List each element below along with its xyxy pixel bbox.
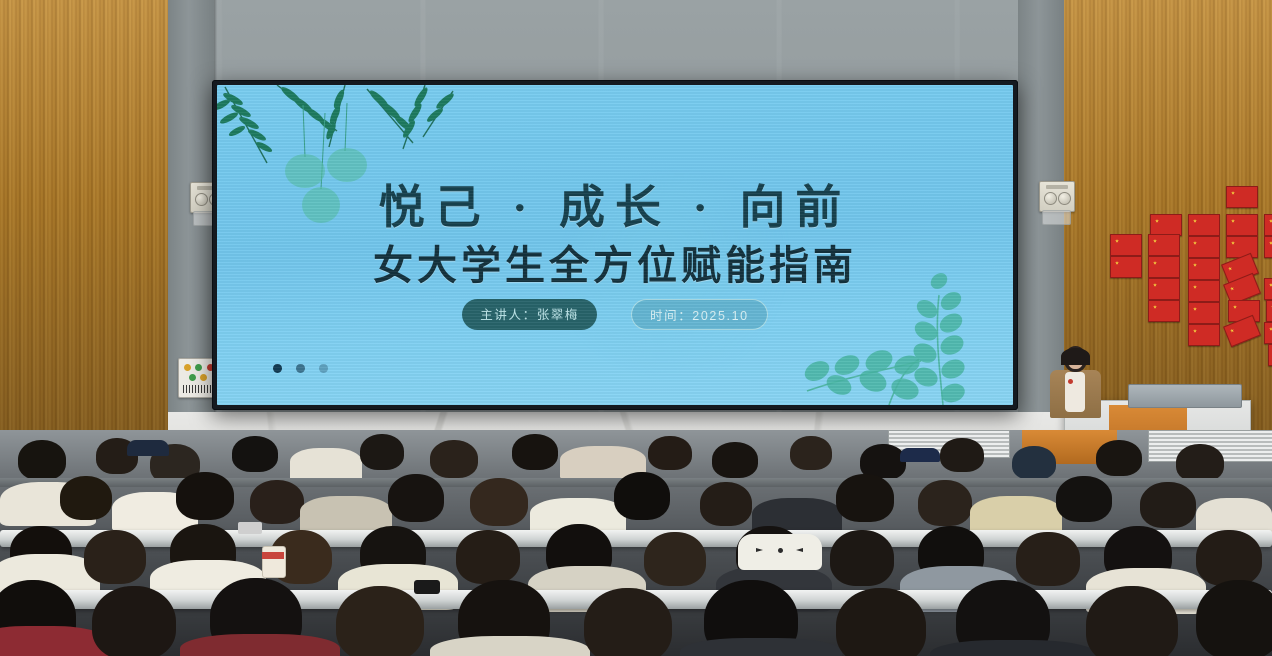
podium-monitor xyxy=(1128,384,1242,408)
audience-head xyxy=(176,472,234,520)
cap xyxy=(127,440,169,456)
audience-head xyxy=(584,588,672,656)
speaker-badge: 主讲人：张翠梅 xyxy=(462,299,597,330)
audience-head xyxy=(830,530,894,586)
date-badge: 时间：2025.10 xyxy=(631,299,768,330)
audience-head xyxy=(1056,476,1112,522)
safety-dot-icon xyxy=(200,374,207,381)
audience-head xyxy=(1176,444,1224,482)
chinese-flag-icon xyxy=(1264,214,1272,236)
panel-knob-right[interactable] xyxy=(1058,192,1071,205)
panel-slot xyxy=(1046,185,1068,189)
slide-canvas: 悦己 · 成长 · 向前 女大学生全方位赋能指南 主讲人：张翠梅 时间：2025… xyxy=(217,85,1013,405)
lecture-hall-photo: 悦己 · 成长 · 向前 女大学生全方位赋能指南 主讲人：张翠梅 时间：2025… xyxy=(0,0,1272,656)
chinese-flag-icon xyxy=(1148,256,1180,278)
audience-coat xyxy=(930,640,1096,656)
audience-head xyxy=(336,586,424,656)
audience-head xyxy=(790,436,832,470)
audience-head xyxy=(360,434,404,470)
chinese-flag-icon xyxy=(1148,234,1180,256)
presenter-top xyxy=(1065,372,1085,412)
panel-knob-left[interactable] xyxy=(1044,192,1057,205)
audience-head xyxy=(1012,446,1056,480)
audience-head xyxy=(92,586,176,656)
audience-head xyxy=(1196,580,1272,656)
chinese-flag-icon xyxy=(1148,300,1180,322)
chinese-flag-icon xyxy=(1188,214,1220,236)
audience-head xyxy=(250,480,304,524)
cap xyxy=(900,448,940,462)
audience-head xyxy=(512,434,558,470)
beanie-face-icon xyxy=(778,548,783,553)
audience-head xyxy=(470,478,528,526)
audience-head xyxy=(1016,532,1080,586)
audience-coat xyxy=(430,636,590,656)
audience-coat xyxy=(680,638,842,656)
audience-coat xyxy=(290,448,362,482)
audience-head xyxy=(1086,586,1178,656)
chinese-flag-icon xyxy=(1226,236,1258,258)
hair-clip xyxy=(414,580,440,594)
audience-head xyxy=(1140,482,1196,528)
slide-title: 悦己 · 成长 · 向前 xyxy=(217,171,1013,237)
control-panel-body xyxy=(1039,181,1075,212)
dot-icon xyxy=(273,364,282,373)
chinese-flag-icon xyxy=(1188,280,1220,302)
audience-head xyxy=(644,532,706,586)
wall-control-panel-right[interactable] xyxy=(1039,181,1073,221)
safety-dot-icon xyxy=(195,364,202,371)
audience-head xyxy=(232,436,278,472)
dot-icon xyxy=(296,364,305,373)
audience-area xyxy=(0,430,1272,656)
safety-dot-icon xyxy=(189,374,196,381)
chinese-flag-icon xyxy=(1264,278,1272,300)
panel-outlet xyxy=(1042,210,1071,225)
chinese-flag-icon xyxy=(1264,236,1272,258)
bottle-label xyxy=(262,552,284,559)
slide-badges: 主讲人：张翠梅 时间：2025.10 xyxy=(217,299,1013,330)
audience-head xyxy=(940,438,984,472)
audience-head xyxy=(836,588,926,656)
audience-head xyxy=(712,442,758,478)
presenter-hair xyxy=(1061,348,1090,365)
chinese-flag-icon xyxy=(1226,214,1258,236)
chinese-flag-icon xyxy=(1148,278,1180,300)
audience-head xyxy=(648,436,692,470)
chinese-flag-icon xyxy=(1110,234,1142,256)
audience-head xyxy=(918,480,972,526)
flag-wall xyxy=(1128,186,1272,346)
water-bottle xyxy=(262,546,286,578)
presenter xyxy=(1044,346,1106,418)
chinese-flag-icon xyxy=(1264,322,1272,344)
safety-dot-icon xyxy=(184,364,191,371)
chinese-flag-icon xyxy=(1188,324,1220,346)
slide-subtitle: 女大学生全方位赋能指南 xyxy=(217,233,1013,291)
chinese-flag-icon xyxy=(1188,302,1220,324)
panel-knob-left[interactable] xyxy=(195,193,208,206)
chinese-flag-icon xyxy=(1268,344,1272,366)
audience-head xyxy=(60,476,112,520)
chinese-flag-icon xyxy=(1188,236,1220,258)
slide-dot-decoration xyxy=(273,364,328,373)
audience-head xyxy=(18,440,66,480)
chinese-flag-icon xyxy=(1188,258,1220,280)
audience-head xyxy=(388,474,444,522)
audience-head xyxy=(836,474,894,522)
led-presentation-screen[interactable]: 悦己 · 成长 · 向前 女大学生全方位赋能指南 主讲人：张翠梅 时间：2025… xyxy=(212,80,1018,410)
chinese-flag-icon xyxy=(1150,214,1182,236)
audience-head xyxy=(614,472,670,520)
audience-head xyxy=(1096,440,1142,476)
audience-head xyxy=(1196,530,1262,586)
audience-coat xyxy=(180,634,340,656)
chinese-flag-icon xyxy=(1266,300,1272,322)
chinese-flag-icon xyxy=(1110,256,1142,278)
presenter-badge-pin xyxy=(1068,379,1073,384)
audience-head xyxy=(430,440,478,478)
audience-head xyxy=(84,530,146,584)
chinese-flag-icon xyxy=(1226,186,1258,208)
audience-head xyxy=(700,482,752,526)
dot-icon xyxy=(319,364,328,373)
hair-clip xyxy=(238,522,262,534)
audience-head xyxy=(456,530,520,584)
